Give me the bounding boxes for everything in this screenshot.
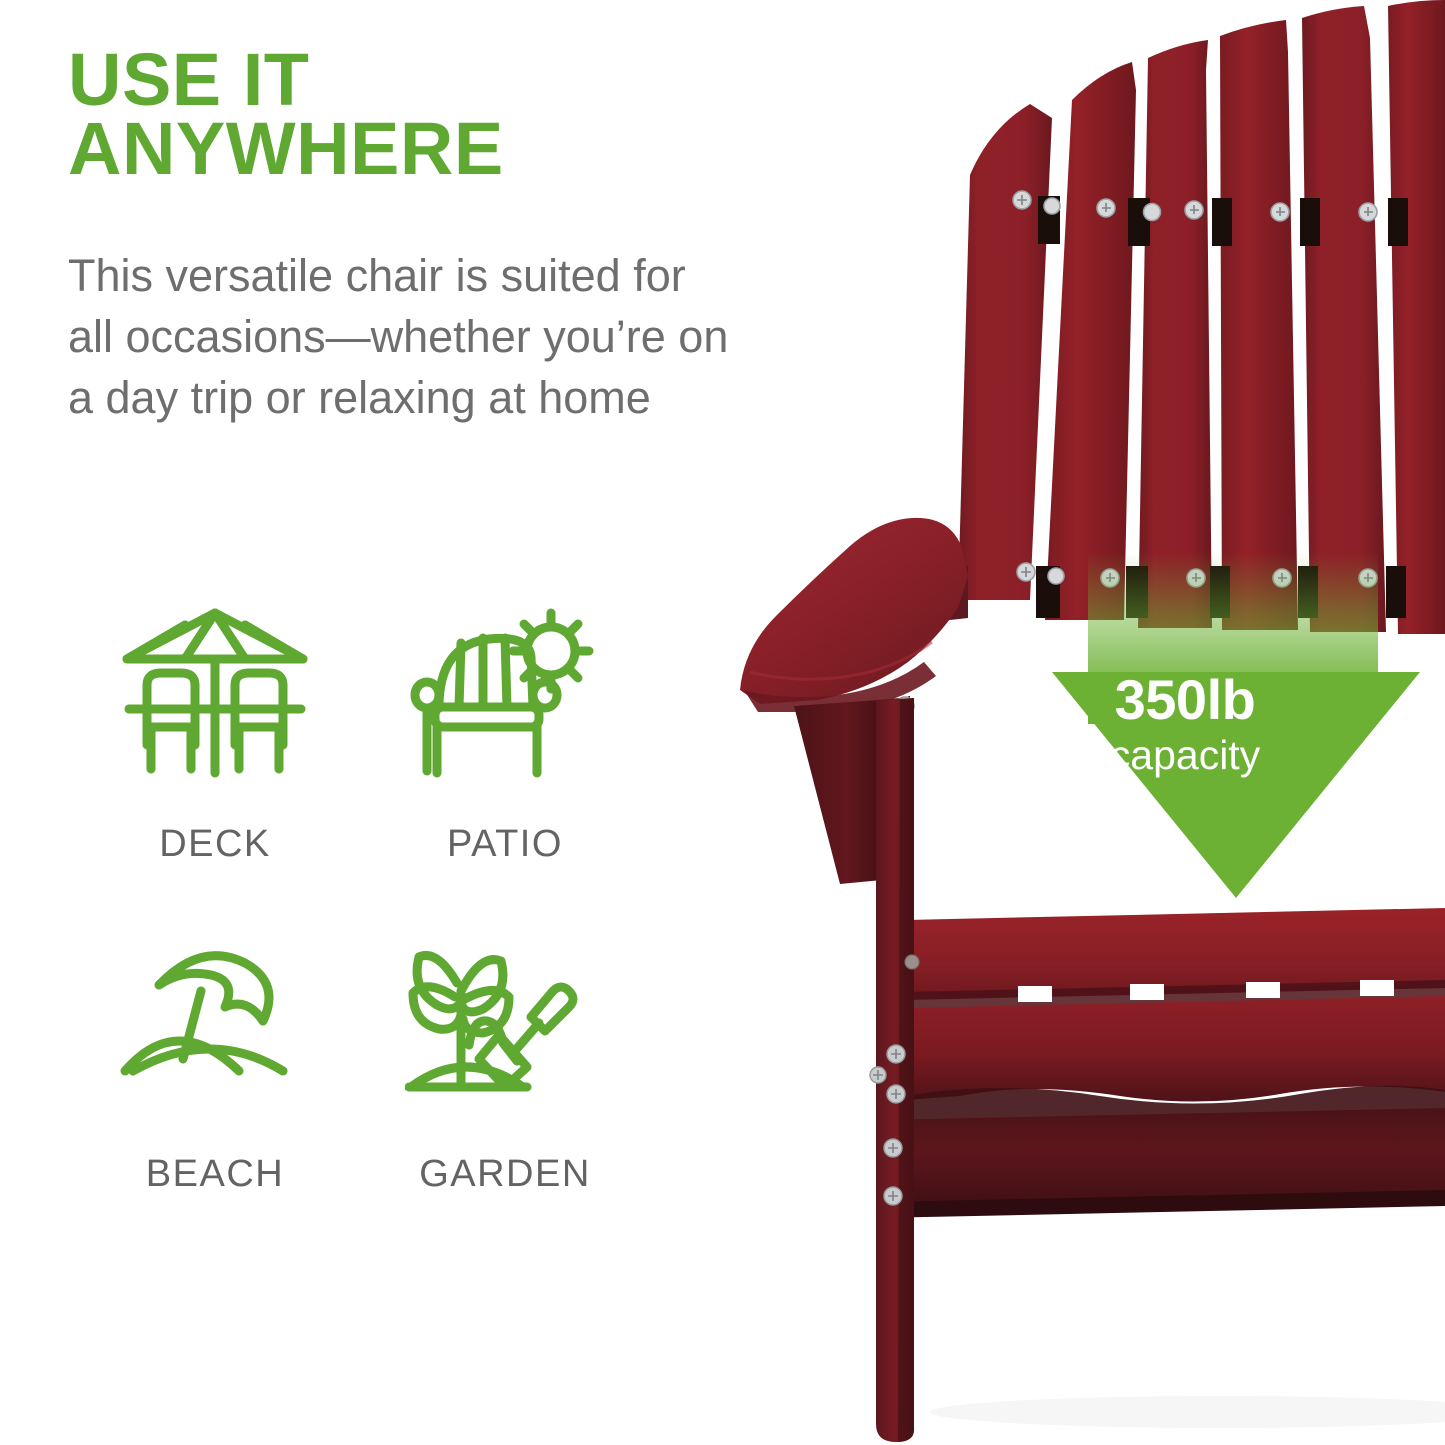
capacity-arrow-shape	[1052, 672, 1420, 898]
chair-back-slats	[958, 0, 1445, 634]
chair-screw-seat	[905, 955, 919, 969]
beach-umbrella-dune-icon	[115, 935, 315, 1135]
chair-illustration	[700, 0, 1445, 1445]
use-case-label: BEACH	[146, 1153, 284, 1196]
use-case-label: DECK	[159, 823, 271, 866]
product-feature-graphic: USE IT ANYWHERE This versatile chair is …	[0, 0, 1445, 1445]
chair-screw-side-bracket	[870, 1067, 886, 1083]
use-case-item-garden: GARDEN	[360, 935, 650, 1265]
chair-arm-support-panel	[794, 700, 882, 884]
product-image-adirondack-chair	[700, 0, 1445, 1445]
chair-seat-apron	[906, 996, 1445, 1102]
page-title: USE IT ANYWHERE	[68, 46, 688, 184]
use-case-item-patio: PATIO	[360, 605, 650, 935]
use-case-label: GARDEN	[419, 1153, 591, 1196]
use-case-item-deck: DECK	[70, 605, 360, 935]
umbrella-two-chairs-icon	[115, 605, 315, 805]
adirondack-chair-sun-icon	[405, 605, 605, 805]
sprout-trowel-icon	[405, 935, 605, 1135]
use-case-grid: DECK	[70, 605, 670, 1265]
use-case-label: PATIO	[447, 823, 563, 866]
chair-armrest	[740, 518, 968, 712]
use-case-item-beach: BEACH	[70, 935, 360, 1265]
floor-shadow	[930, 1396, 1445, 1428]
